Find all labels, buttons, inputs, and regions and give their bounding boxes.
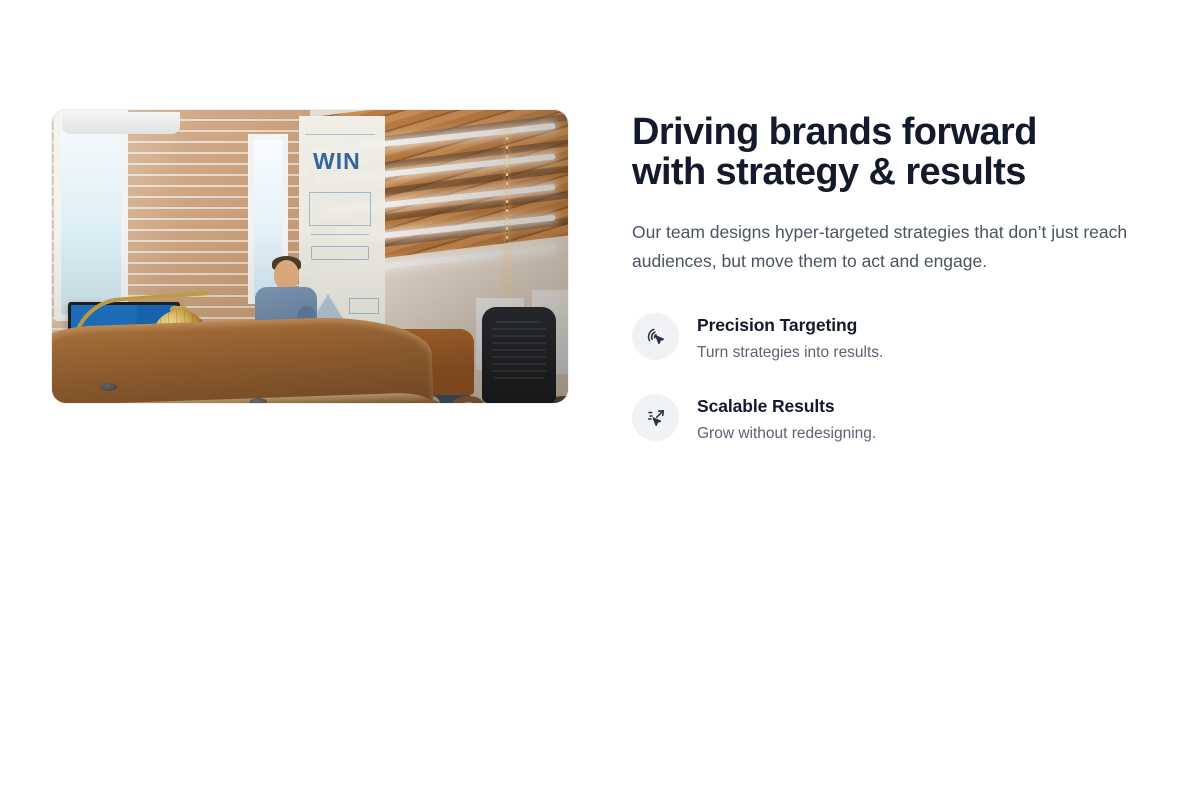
feature-item-precision-targeting: Precision Targeting Turn strategies into… xyxy=(632,312,1148,363)
table-grommet xyxy=(100,383,117,391)
mural-word: WIN xyxy=(313,148,361,175)
left-window xyxy=(54,110,128,321)
feature-title: Precision Targeting xyxy=(697,314,883,336)
office-meeting-photo: WIN xyxy=(52,110,568,403)
hero-media-column: WIN xyxy=(52,110,568,403)
hero-subcopy: Our team designs hyper-targeted strategi… xyxy=(632,218,1148,276)
page-title: Driving brands forward with strategy & r… xyxy=(632,112,1112,192)
feature-text: Precision Targeting Turn strategies into… xyxy=(697,312,883,363)
feature-title: Scalable Results xyxy=(697,395,876,417)
hero-section: WIN xyxy=(52,110,1148,444)
mural-sketch-line xyxy=(305,134,375,135)
mural-sketch-line xyxy=(311,234,369,235)
feature-description: Grow without redesigning. xyxy=(697,424,876,444)
mural-banner xyxy=(311,246,369,260)
feature-text: Scalable Results Grow without redesignin… xyxy=(697,393,876,444)
hero-text-column: Driving brands forward with strategy & r… xyxy=(632,110,1148,444)
cursor-click-icon xyxy=(632,313,679,360)
mural-sketch-box xyxy=(309,192,371,226)
feature-description: Turn strategies into results. xyxy=(697,343,883,363)
presenter-head xyxy=(274,260,299,290)
cursor-growth-arrow-icon xyxy=(632,394,679,441)
mural-sketch-box xyxy=(349,298,379,314)
office-chair xyxy=(482,307,556,403)
feature-list: Precision Targeting Turn strategies into… xyxy=(632,312,1148,444)
page-root: WIN xyxy=(0,0,1200,800)
hero-image: WIN xyxy=(52,110,568,403)
table-grommet xyxy=(250,398,267,403)
feature-item-scalable-results: Scalable Results Grow without redesignin… xyxy=(632,393,1148,444)
ceiling-vent xyxy=(62,112,180,134)
